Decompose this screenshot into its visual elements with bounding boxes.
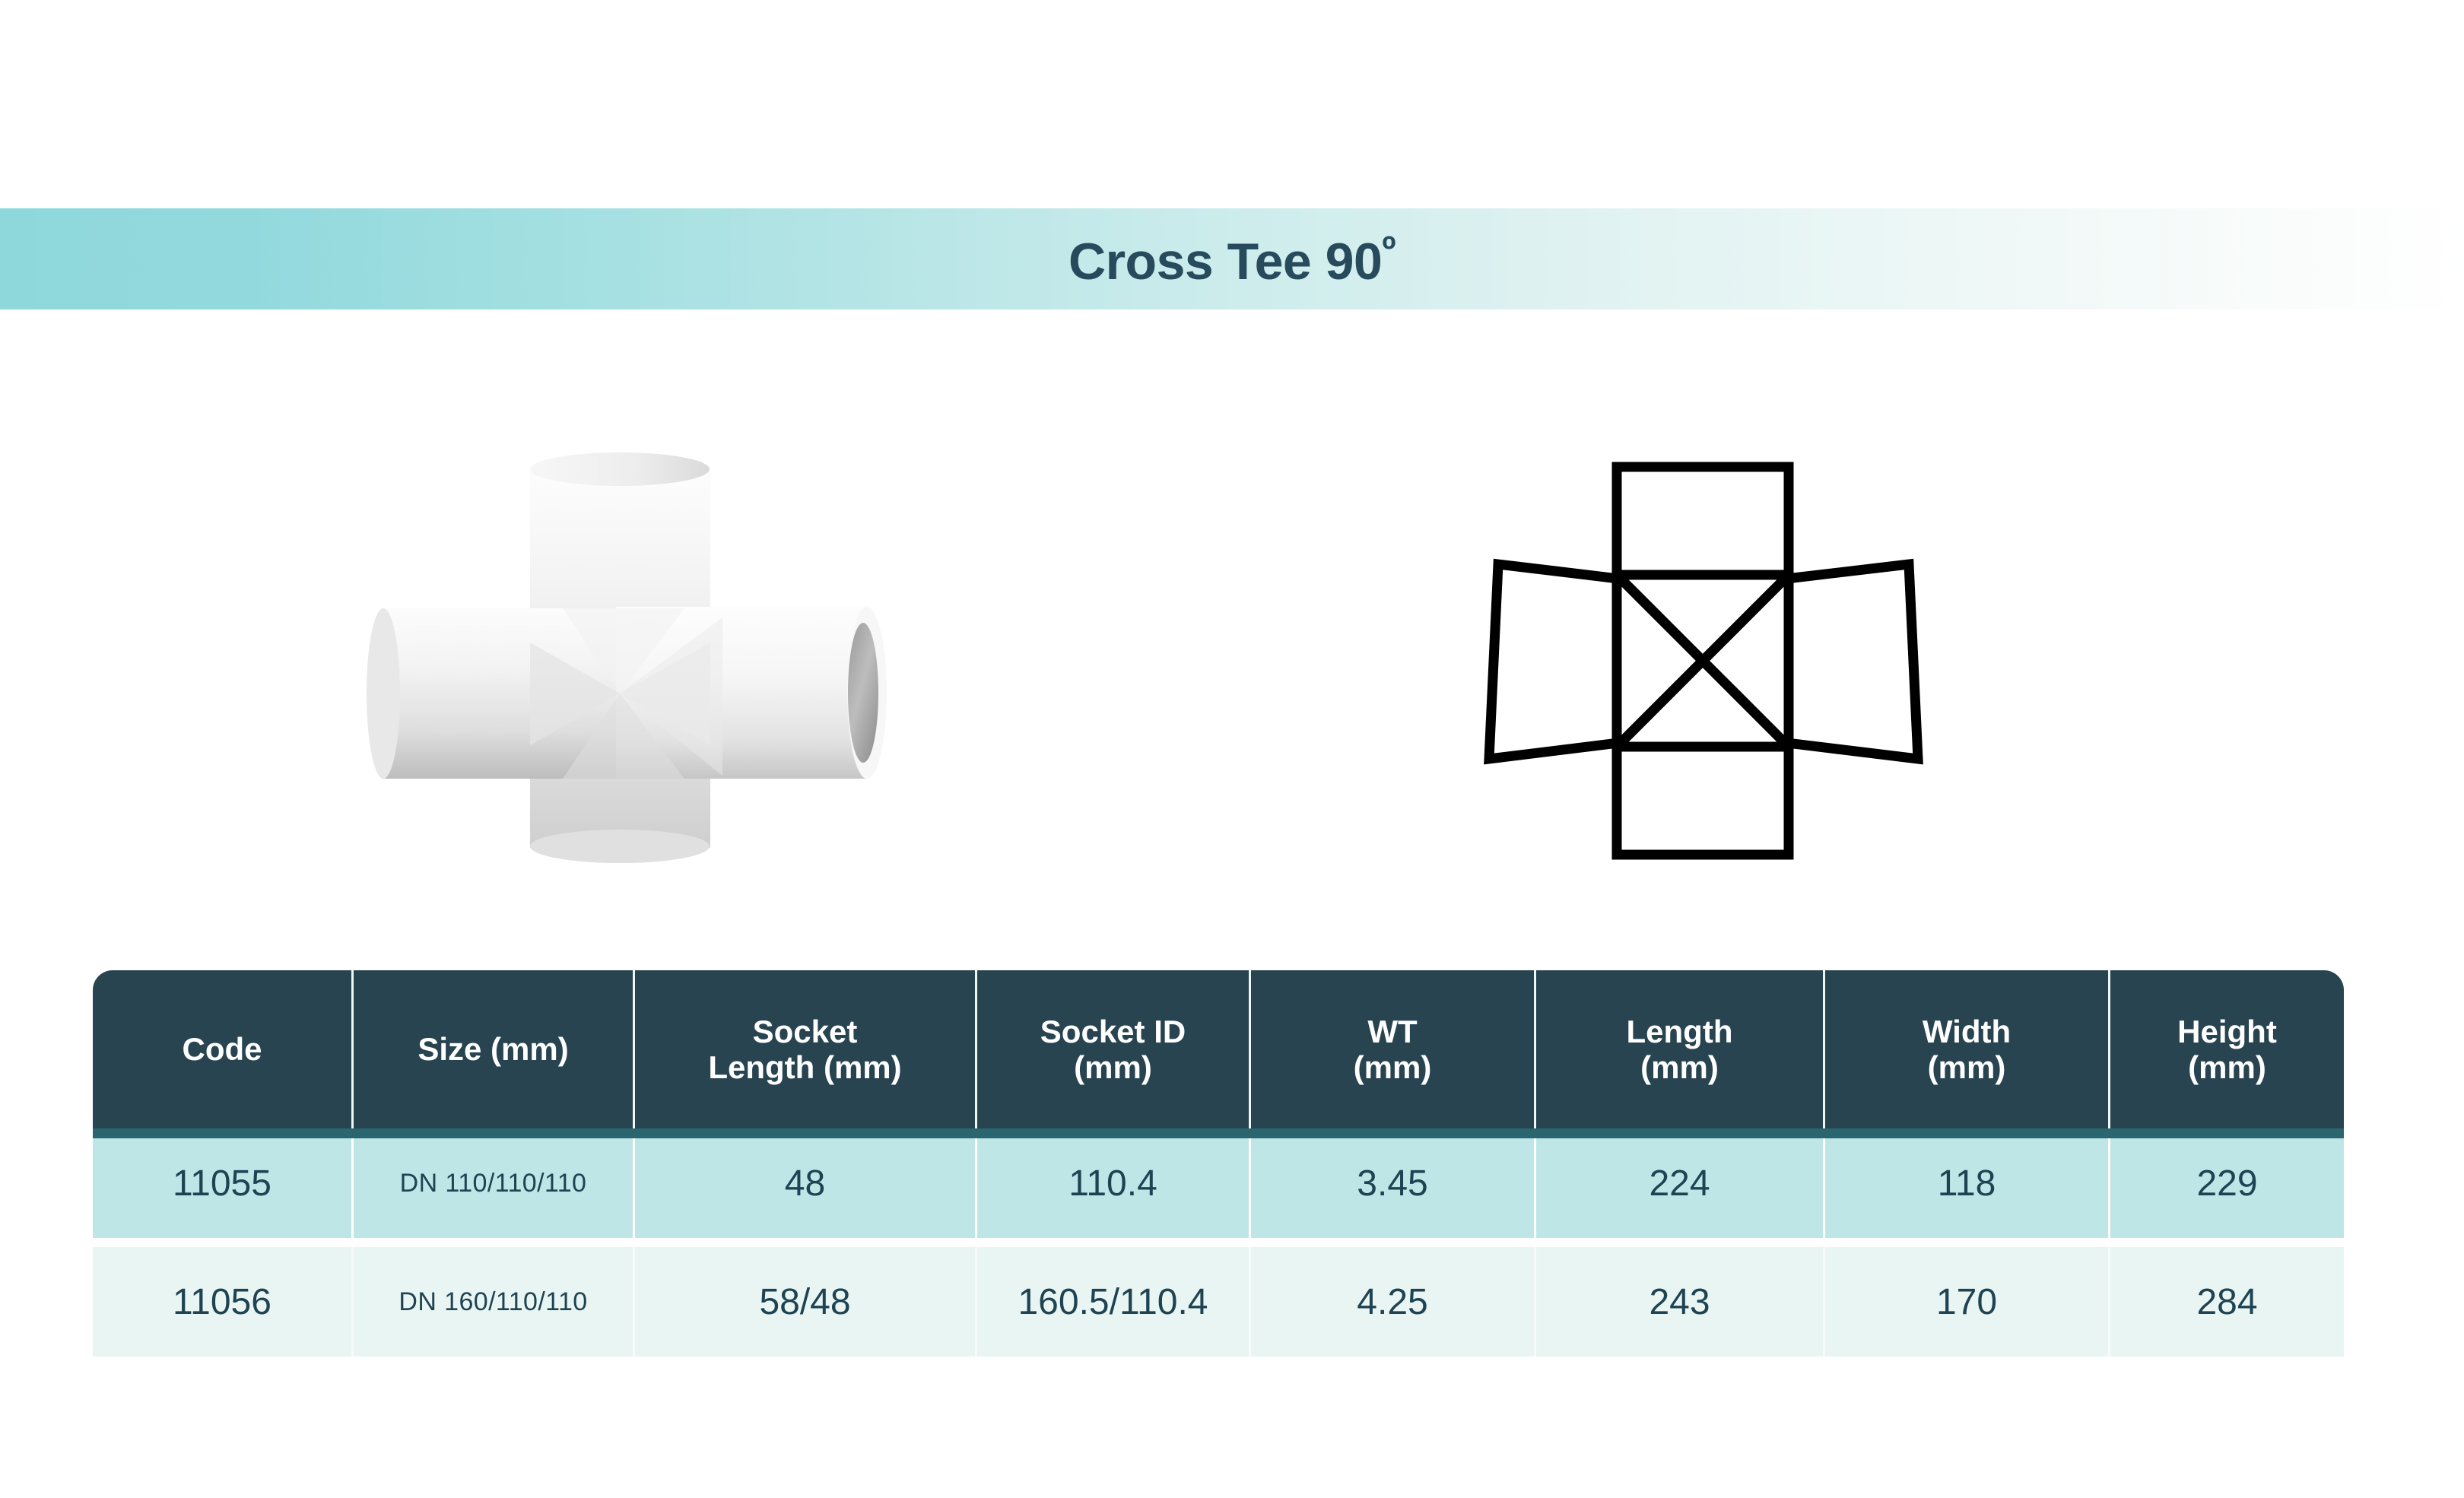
cell-socket-length: 48: [635, 1128, 977, 1238]
column-header-wt: WT (mm): [1251, 970, 1536, 1128]
table-row: 11055 DN 110/110/110 48 110.4 3.45 224 1…: [93, 1128, 2344, 1238]
cell-height: 229: [2110, 1128, 2344, 1238]
column-header-width: Width (mm): [1825, 970, 2110, 1128]
column-header-socket-id: Socket ID (mm): [977, 970, 1251, 1128]
column-header-socket-id-line1: Socket ID: [1040, 1014, 1186, 1049]
cell-socket-id: 110.4: [977, 1128, 1251, 1238]
technical-drawing: [1468, 433, 1939, 890]
column-header-wt-line1: WT: [1367, 1014, 1417, 1049]
column-header-socket-length-line1: Socket: [753, 1014, 858, 1049]
column-header-code-label: Code: [183, 1031, 262, 1067]
cell-width: 118: [1825, 1128, 2110, 1238]
cross-tee-90-schematic-icon: [1468, 433, 1939, 890]
specification-table: Code Size (mm) Socket Length (mm) Socket…: [93, 970, 2344, 1357]
cell-code: 11055: [93, 1128, 354, 1238]
product-photo: [365, 426, 897, 897]
column-header-code: Code: [93, 970, 354, 1128]
cell-height: 284: [2110, 1247, 2344, 1357]
cell-size: DN 110/110/110: [354, 1128, 635, 1238]
column-header-socket-length: Socket Length (mm): [635, 970, 977, 1128]
column-header-width-line2: (mm): [1928, 1049, 2006, 1085]
cell-socket-id: 160.5/110.4: [977, 1247, 1251, 1357]
table-row: 11056 DN 160/110/110 58/48 160.5/110.4 4…: [93, 1247, 2344, 1357]
cell-wt: 4.25: [1251, 1247, 1536, 1357]
table-body: 11055 DN 110/110/110 48 110.4 3.45 224 1…: [93, 1128, 2344, 1357]
degree-symbol: º: [1382, 228, 1396, 271]
column-header-length: Length (mm): [1536, 970, 1825, 1128]
cell-socket-length: 58/48: [635, 1247, 977, 1357]
table-header-row: Code Size (mm) Socket Length (mm) Socket…: [93, 970, 2344, 1128]
table-header: Code Size (mm) Socket Length (mm) Socket…: [93, 970, 2344, 1128]
cell-code: 11056: [93, 1247, 354, 1357]
column-header-height-line2: (mm): [2188, 1049, 2266, 1085]
table-row-gap-cell: [93, 1238, 2344, 1247]
column-header-width-line1: Width: [1923, 1014, 2011, 1049]
product-spec-sheet: Cross Tee 90º: [0, 0, 2464, 1498]
column-header-length-line2: (mm): [1640, 1049, 1719, 1085]
page-title-text: Cross Tee 90: [1068, 233, 1382, 290]
cell-size: DN 160/110/110: [354, 1247, 635, 1357]
figures-area: [0, 426, 2464, 897]
column-header-height: Height (mm): [2110, 970, 2344, 1128]
cell-length: 224: [1536, 1128, 1825, 1238]
pvc-cross-tee-3d-icon: [365, 426, 897, 897]
column-header-wt-line2: (mm): [1354, 1049, 1432, 1085]
specification-table-wrapper: Code Size (mm) Socket Length (mm) Socket…: [93, 970, 2344, 1357]
page-header-banner: Cross Tee 90º: [0, 208, 2464, 309]
cell-width: 170: [1825, 1247, 2110, 1357]
cell-wt: 3.45: [1251, 1128, 1536, 1238]
column-header-height-line1: Height: [2177, 1014, 2277, 1049]
table-row-gap: [93, 1238, 2344, 1247]
column-header-socket-length-line2: Length (mm): [708, 1049, 901, 1085]
column-header-size-label: Size (mm): [418, 1031, 568, 1067]
cell-length: 243: [1536, 1247, 1825, 1357]
column-header-socket-id-line2: (mm): [1074, 1049, 1152, 1085]
page-title: Cross Tee 90º: [1068, 230, 1396, 287]
column-header-length-line1: Length: [1627, 1014, 1733, 1049]
column-header-size: Size (mm): [354, 970, 635, 1128]
